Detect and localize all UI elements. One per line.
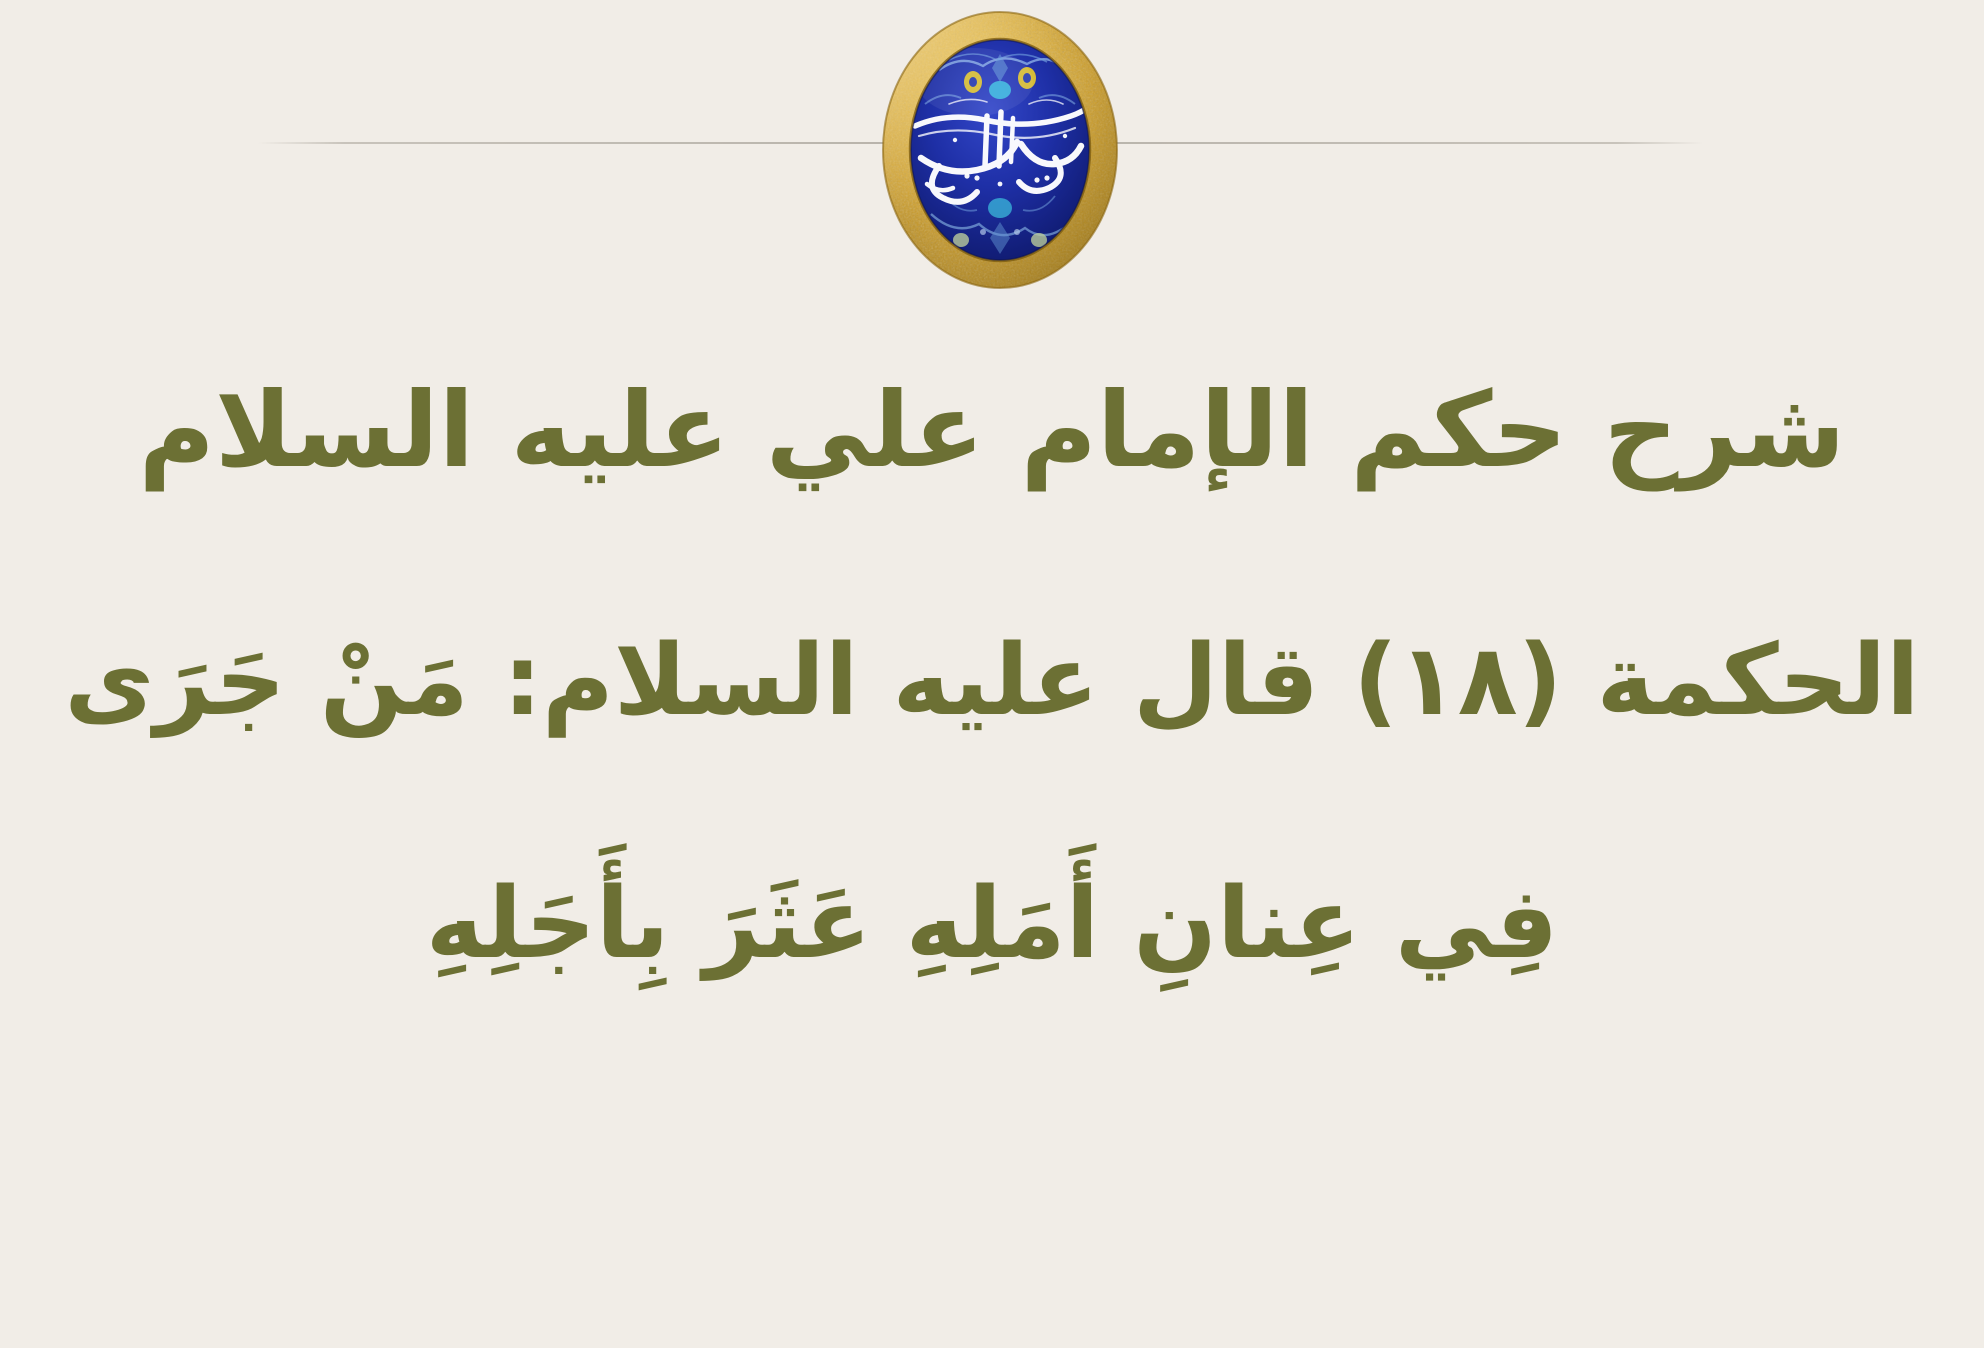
wisdom-body-line: فِي عِنانِ أَمَلِهِ عَثَرَ بِأَجَلِهِ — [0, 875, 1984, 973]
wisdom-heading-line: الحكمة (١٨) قال عليه السلام: مَنْ جَرَى — [0, 632, 1984, 730]
page-title: شرح حكم الإمام علي عليه السلام — [0, 378, 1984, 482]
nahj-al-balagha-medallion-logo — [879, 8, 1121, 292]
slide-canvas: شرح حكم الإمام علي عليه السلام الحكمة (١… — [0, 0, 1984, 1348]
slide-text-block: شرح حكم الإمام علي عليه السلام الحكمة (١… — [0, 300, 1984, 973]
